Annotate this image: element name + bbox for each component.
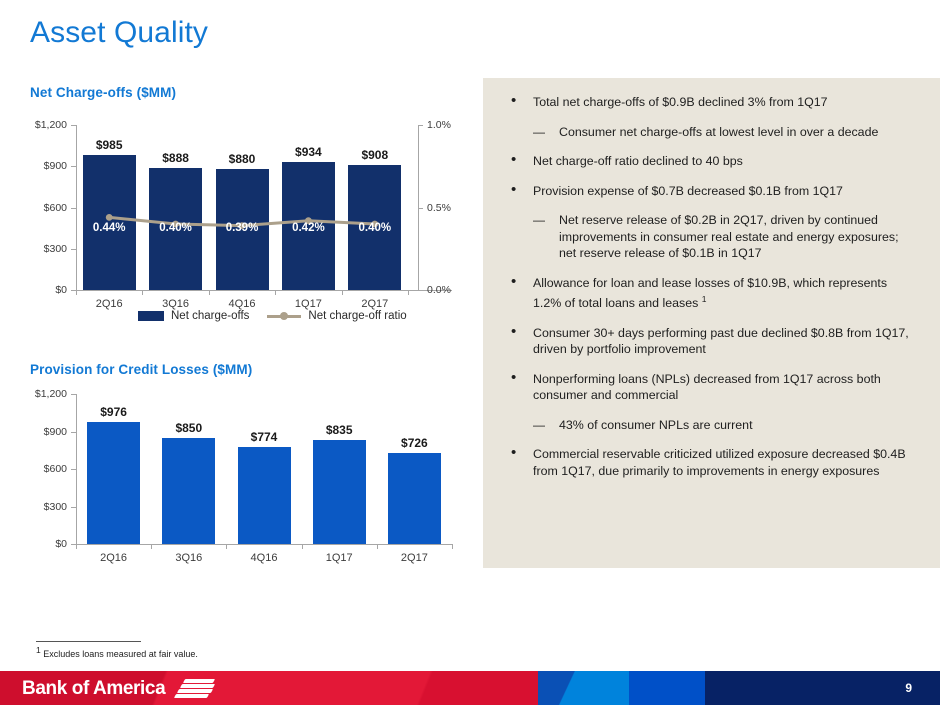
bullet-item: Commercial reservable criticized utilize… — [497, 446, 918, 479]
bar-4Q16 — [238, 447, 291, 544]
x-tick — [209, 290, 210, 295]
y-tick — [71, 125, 76, 126]
bar-value-label: $908 — [335, 148, 415, 162]
y-axis-tick-label: $600 — [30, 202, 67, 214]
chart-legend-net-charge-offs: Net charge-offs Net charge-off ratio — [138, 310, 407, 322]
y-axis-tick-label: $0 — [30, 284, 67, 296]
bar-value-label: $774 — [224, 430, 304, 444]
bar-value-label: $726 — [374, 436, 454, 450]
y-axis-tick-label: $600 — [30, 463, 67, 475]
x-axis-category-label: 2Q16 — [74, 552, 154, 564]
footer-band-blue-light — [538, 671, 629, 705]
bullet-subitem: 43% of consumer NPLs are current — [497, 417, 918, 434]
y2-axis-tick-label: 1.0% — [427, 119, 451, 131]
bullet-subitem: Consumer net charge-offs at lowest level… — [497, 124, 918, 141]
footnote-marker: 1 — [36, 645, 41, 655]
plot-area-net-charge-offs: $0$300$600$900$1,2000.0%0.5%1.0%$9852Q16… — [30, 125, 470, 290]
chart-title-net-charge-offs: Net Charge-offs ($MM) — [30, 85, 470, 100]
bullet-text: Net charge-off ratio declined to 40 bps — [533, 154, 743, 168]
x-tick — [377, 544, 378, 549]
footer-band-blue-medium — [629, 671, 705, 705]
x-axis-category-label: 2Q17 — [335, 298, 415, 310]
y2-tick — [418, 125, 423, 126]
bar-value-label: $835 — [299, 423, 379, 437]
x-axis-category-label: 1Q17 — [299, 552, 379, 564]
bullet-item: Allowance for loan and lease losses of $… — [497, 275, 918, 312]
commentary-panel: Total net charge-offs of $0.9B declined … — [483, 78, 940, 568]
bullet-item: Total net charge-offs of $0.9B declined … — [497, 94, 918, 111]
y-axis-tick-label: $1,200 — [30, 388, 67, 400]
plot-area-provision: $0$300$600$900$1,200$9762Q16$8503Q16$774… — [30, 394, 470, 544]
bofa-flag-icon — [174, 678, 218, 700]
slide: Asset Quality Net Charge-offs ($MM) $0$3… — [0, 0, 940, 705]
bullet-item: Nonperforming loans (NPLs) decreased fro… — [497, 371, 918, 404]
bullet-footnote-marker: 1 — [702, 294, 707, 304]
bullet-text: Nonperforming loans (NPLs) decreased fro… — [533, 372, 881, 403]
bar-value-label: $985 — [69, 138, 149, 152]
x-tick — [275, 290, 276, 295]
y-tick — [71, 166, 76, 167]
legend-line-icon — [267, 311, 301, 321]
bullet-item: Provision expense of $0.7B decreased $0.… — [497, 183, 918, 200]
bullet-text: Consumer net charge-offs at lowest level… — [559, 125, 878, 139]
bullet-text: Commercial reservable criticized utilize… — [533, 447, 906, 478]
legend-label-net-charge-off-ratio: Net charge-off ratio — [308, 310, 406, 322]
bank-of-america-logo: Bank of America — [22, 678, 218, 700]
bullet-item: Consumer 30+ days performing past due de… — [497, 325, 918, 358]
y-axis-tick-label: $1,200 — [30, 119, 67, 131]
footer-band-blue-light-shade — [538, 671, 629, 705]
bullet-text: Total net charge-offs of $0.9B declined … — [533, 95, 828, 109]
ratio-value-label: 0.40% — [335, 222, 415, 234]
bullet-text: 43% of consumer NPLs are current — [559, 418, 753, 432]
x-axis-category-label: 3Q16 — [149, 552, 229, 564]
bullet-text: Provision expense of $0.7B decreased $0.… — [533, 184, 843, 198]
y-tick — [71, 432, 76, 433]
y-axis-tick-label: $300 — [30, 501, 67, 513]
page-number: 9 — [905, 681, 912, 695]
bar-1Q17 — [313, 440, 366, 544]
y-tick — [71, 249, 76, 250]
bar-value-label: $976 — [74, 405, 154, 419]
bullet-text: Consumer 30+ days performing past due de… — [533, 326, 909, 357]
y-tick — [71, 208, 76, 209]
y-axis-tick-label: $900 — [30, 426, 67, 438]
page-title: Asset Quality — [30, 16, 208, 50]
bullet-text: Net reserve release of $0.2B in 2Q17, dr… — [559, 213, 899, 260]
y-tick — [71, 507, 76, 508]
x-axis-category-label: 2Q17 — [374, 552, 454, 564]
x-axis-category-label: 4Q16 — [224, 552, 304, 564]
legend-label-net-charge-offs: Net charge-offs — [171, 310, 249, 322]
x-tick — [142, 290, 143, 295]
bar-2Q16 — [87, 422, 140, 544]
x-tick — [342, 290, 343, 295]
chart-title-provision: Provision for Credit Losses ($MM) — [30, 362, 470, 377]
x-tick — [151, 544, 152, 549]
x-tick — [226, 544, 227, 549]
y-tick — [71, 469, 76, 470]
bullet-item: Net charge-off ratio declined to 40 bps — [497, 153, 918, 170]
x-tick — [408, 290, 409, 295]
legend-swatch-icon — [138, 311, 164, 321]
y-axis-tick-label: $900 — [30, 160, 67, 172]
y2-tick — [418, 290, 423, 291]
x-tick — [452, 544, 453, 549]
x-axis-line — [76, 290, 452, 291]
logo-wordmark: Bank of America — [22, 678, 165, 700]
bullet-subitem: Net reserve release of $0.2B in 2Q17, dr… — [497, 212, 918, 262]
bar-value-label: $850 — [149, 421, 229, 435]
legend-item-line: Net charge-off ratio — [267, 310, 406, 322]
legend-item-bars: Net charge-offs — [138, 310, 249, 322]
footnote-divider — [36, 641, 141, 642]
y2-axis-tick-label: 0.0% — [427, 284, 451, 296]
bullet-text: Allowance for loan and lease losses of $… — [533, 276, 887, 311]
chart-net-charge-offs: Net Charge-offs ($MM) $0$300$600$900$1,2… — [30, 85, 470, 335]
x-tick — [76, 544, 77, 549]
x-tick — [302, 544, 303, 549]
x-tick — [76, 290, 77, 295]
bar-2Q17 — [388, 453, 441, 544]
y-tick — [71, 394, 76, 395]
y-axis-tick-label: $0 — [30, 538, 67, 550]
y-axis-tick-label: $300 — [30, 243, 67, 255]
y2-tick — [418, 208, 423, 209]
footnote-text: Excludes loans measured at fair value. — [43, 649, 198, 659]
x-axis-line — [76, 544, 452, 545]
bullet-list: Total net charge-offs of $0.9B declined … — [483, 78, 940, 479]
bar-3Q16 — [162, 438, 215, 544]
y2-axis-tick-label: 0.5% — [427, 202, 451, 214]
chart-provision-for-credit-losses: Provision for Credit Losses ($MM) $0$300… — [30, 362, 470, 572]
footnote: 1 Excludes loans measured at fair value. — [36, 645, 198, 659]
